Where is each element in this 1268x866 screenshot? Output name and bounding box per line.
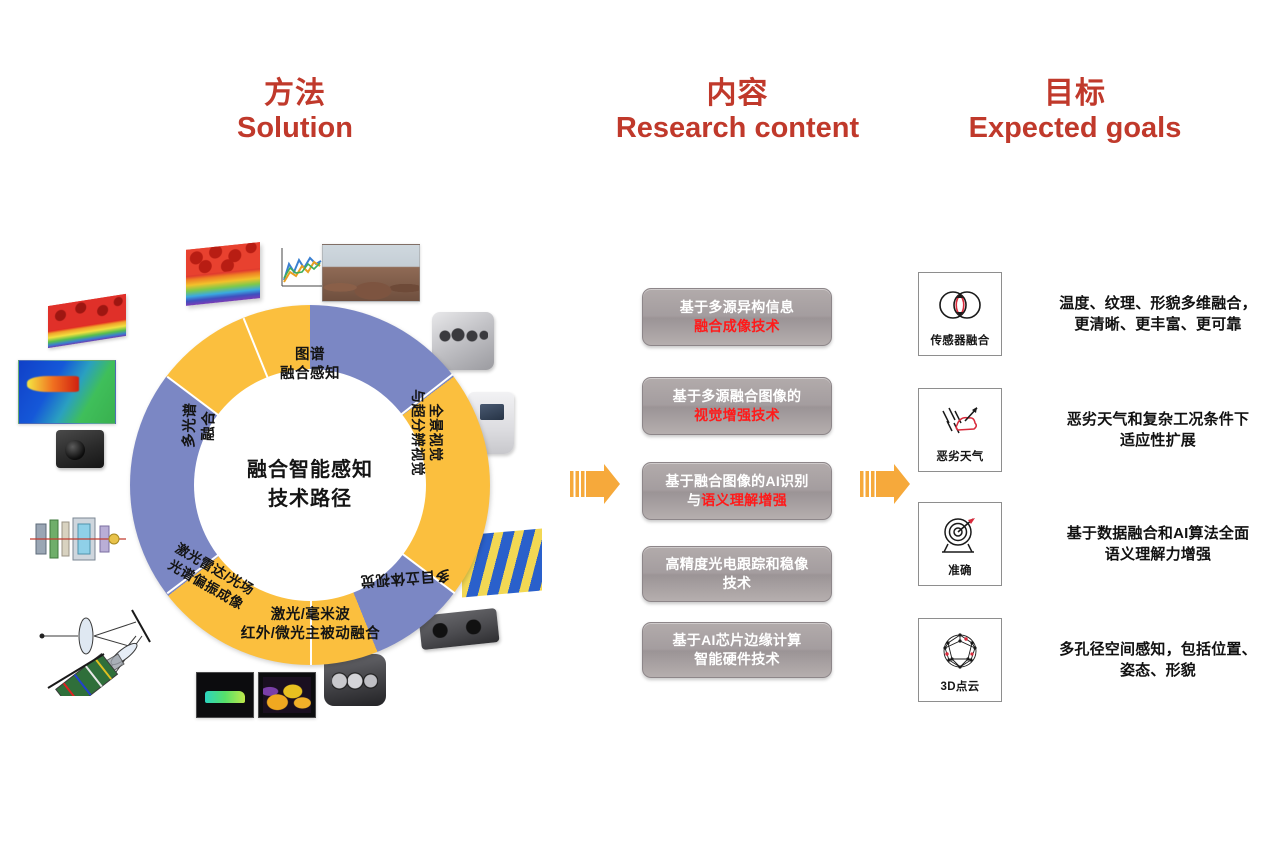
wheel-center-line1: 融合智能感知 [247,459,373,481]
column-header-content: 内容 Research content [600,76,875,146]
goal-text-0-line1: 温度、纹理、形貌多维融合， [1059,295,1257,312]
content-box-0-highlight: 融合成像技术 [694,318,780,334]
goal-card-3[interactable]: 3D点云 [918,618,1002,702]
spectral-fruit-tray-image [48,294,126,348]
wheel-center-line2: 技术路径 [268,488,352,510]
goal-text-3-line2: 姿态、形貌 [1120,662,1196,679]
goal-text-2: 基于数据融合和AI算法全面 语义理解力增强 [1032,523,1268,566]
goal-text-2-line2: 语义理解力增强 [1105,546,1211,563]
content-box-3[interactable]: 高精度光电跟踪和稳像 技术 [642,546,832,602]
solution-to-content-arrow [570,462,622,506]
goal-card-0[interactable]: 传感器融合 [918,272,1002,356]
goal-row-1: 恶劣天气 恶劣天气和复杂工况条件下 适应性扩展 [918,388,1268,472]
column-header-solution-en: Solution [180,111,410,145]
industrial-pipes-photo [322,244,420,302]
content-box-2[interactable]: 基于融合图像的AI识别 与语义理解增强 [642,462,832,520]
thermal-camera-photo [56,430,104,468]
column-header-content-cn: 内容 [600,76,875,111]
column-header-goals: 目标 Expected goals [940,76,1210,146]
content-box-1[interactable]: 基于多源融合图像的 视觉增强技术 [642,377,832,435]
thermal-scene-image [18,360,116,424]
goal-text-1-line2: 适应性扩展 [1120,432,1196,449]
goal-text-0: 温度、纹理、形貌多维融合， 更清晰、更丰富、更可靠 [1032,293,1268,336]
venn-fusion-icon [936,282,984,328]
content-box-4-plain: 基于AI芯片边缘计算 [673,632,802,648]
goal-row-3: 3D点云 多孔径空间感知，包括位置、 姿态、形貌 [918,618,1268,702]
content-box-2-highlight: 语义理解增强 [701,492,787,508]
goal-text-1-line1: 恶劣天气和复杂工况条件下 [1067,411,1249,428]
content-box-3-plain: 高精度光电跟踪和稳像 [666,556,809,572]
night-vision-thumb-1 [196,672,254,718]
content-box-4[interactable]: 基于AI芯片边缘计算 智能硬件技术 [642,622,832,678]
goal-card-3-label: 3D点云 [941,678,980,694]
content-box-1-plain: 基于多源融合图像的 [673,388,802,404]
wheel-segment-3-line1: 激光/毫米波 [271,607,351,623]
goal-card-0-label: 传感器融合 [931,332,990,348]
wheel-segment-1-line2: 与超分辨视觉 [410,389,426,476]
goal-card-1[interactable]: 恶劣天气 [918,388,1002,472]
wheel-segment-5-line2: 融合 [200,411,217,442]
goal-text-2-line1: 基于数据融合和AI算法全面 [1067,525,1250,542]
wheel-segment-1-line1: 全景视觉 [428,403,444,461]
goal-card-2[interactable]: 准确 [918,502,1002,586]
content-to-goals-arrow [860,462,912,506]
hyperspectral-cube-image [186,242,260,306]
goal-card-1-label: 恶劣天气 [936,448,983,464]
column-header-solution: 方法 Solution [180,76,410,146]
polarization-optics-image [30,508,126,570]
content-box-0[interactable]: 基于多源异构信息 融合成像技术 [642,288,832,346]
point-cloud-icon [936,628,984,674]
target-accuracy-icon [936,512,984,558]
content-box-2-prefix: 与 [687,492,701,508]
content-box-4-line2: 智能硬件技术 [694,651,780,667]
content-box-0-plain: 基于多源异构信息 [680,299,794,315]
spectral-curve-plot-image [270,242,326,300]
fusion-technology-wheel: 融合智能感知 技术路径 图谱 融合感知 全景视觉 与超分辨视觉 多目立体视觉 激… [130,305,490,665]
column-header-content-en: Research content [600,111,875,145]
column-header-goals-en: Expected goals [940,111,1210,145]
content-box-2-plain: 基于融合图像的AI识别 [665,473,808,489]
goal-row-0: 传感器融合 温度、纹理、形貌多维融合， 更清晰、更丰富、更可靠 [918,272,1268,356]
column-header-goals-cn: 目标 [940,76,1210,111]
content-box-1-highlight: 视觉增强技术 [694,407,780,423]
wheel-segment-0-line1: 图谱 [295,347,325,363]
goal-text-3-line1: 多孔径空间感知，包括位置、 [1059,641,1257,658]
wheel-segment-0-line2: 融合感知 [280,366,340,382]
goal-text-0-line2: 更清晰、更丰富、更可靠 [1074,316,1241,333]
bad-weather-icon [936,398,984,444]
content-box-3-line2: 技术 [723,575,752,591]
goal-card-2-label: 准确 [948,562,972,578]
goal-row-2: 准确 基于数据融合和AI算法全面 语义理解力增强 [918,502,1268,586]
night-vision-thumb-2 [258,672,316,718]
goal-text-1: 恶劣天气和复杂工况条件下 适应性扩展 [1032,409,1268,452]
goal-text-3: 多孔径空间感知，包括位置、 姿态、形貌 [1032,639,1268,682]
column-header-solution-cn: 方法 [180,76,410,111]
wheel-segment-5-line1: 多光谱 [181,403,199,449]
